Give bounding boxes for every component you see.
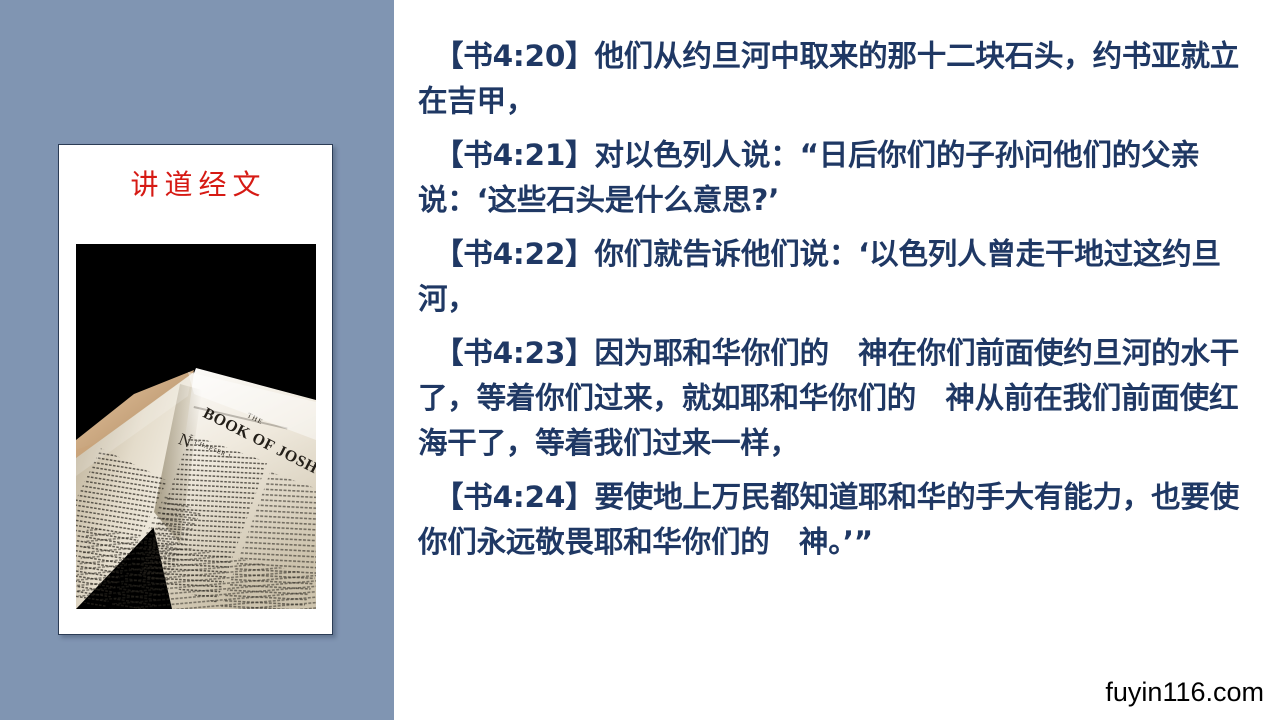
verse-paragraph: 【书4:23】因为耶和华你们的 神在你们前面使约旦河的水干了，等着你们过来，就如… [418,331,1244,466]
open-bible-photo: THE BOOK OF JOSHUA N CHAPTER 1 [76,244,316,609]
verse-paragraph: 【书4:20】他们从约旦河中取来的那十二块石头，约书亚就立在吉甲， [418,34,1244,124]
presentation-slide: 讲道经文 [0,0,1280,720]
scripture-title-card: 讲道经文 [58,144,333,635]
verse-paragraph: 【书4:21】对以色列人说：“日后你们的子孙问他们的父亲说：‘这些石头是什么意思… [418,133,1244,223]
scripture-text-column: 【书4:20】他们从约旦河中取来的那十二块石头，约书亚就立在吉甲， 【书4:21… [418,34,1244,674]
site-watermark: fuyin116.com [1105,679,1264,706]
verse-paragraph: 【书4:22】你们就告诉他们说：‘以色列人曾走干地过这约旦河， [418,232,1244,322]
card-title: 讲道经文 [59,171,332,202]
verse-paragraph: 【书4:24】要使地上万民都知道耶和华的手大有能力，也要使你们永远敬畏耶和华你们… [418,475,1244,565]
